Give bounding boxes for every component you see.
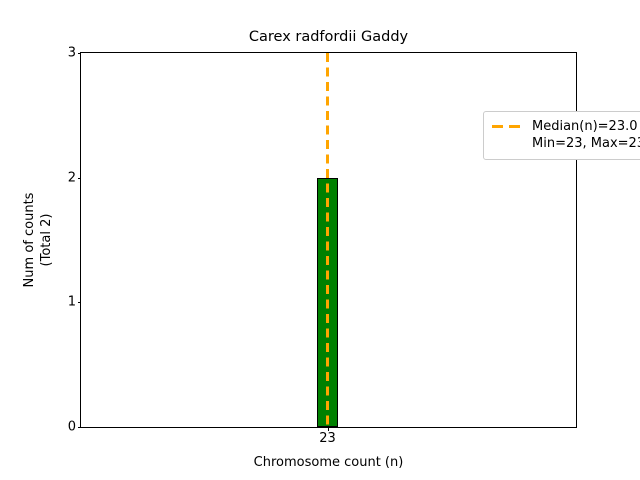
x-axis-label: Chromosome count (n) bbox=[80, 455, 577, 470]
y-axis-label-line2: (Total 2) bbox=[38, 52, 55, 428]
ytick-label-1: 1 bbox=[68, 296, 76, 309]
y-axis-label: Num of counts (Total 2) bbox=[21, 52, 57, 428]
legend-median-label: Median(n)=23.0 bbox=[532, 118, 640, 135]
legend-dashed-line-icon bbox=[492, 119, 524, 134]
plot-area: 0 1 2 3 23 bbox=[80, 52, 577, 428]
xtick-label-23: 23 bbox=[319, 432, 336, 445]
ytick-label-3: 3 bbox=[68, 47, 76, 60]
median-line bbox=[326, 53, 329, 427]
ytick-label-0: 0 bbox=[68, 421, 76, 434]
legend-minmax-label: Min=23, Max=23 bbox=[532, 135, 640, 152]
figure-canvas: Carex radfordii Gaddy 0 1 2 3 23 bbox=[0, 0, 640, 480]
ytick-label-2: 2 bbox=[68, 171, 76, 184]
y-axis-label-line1: Num of counts bbox=[21, 52, 38, 428]
xtick-mark-23 bbox=[328, 427, 329, 431]
legend: Median(n)=23.0 Min=23, Max=23 bbox=[483, 111, 640, 160]
ytick-mark-0 bbox=[78, 427, 82, 428]
bars-layer bbox=[81, 53, 576, 427]
legend-entry-text: Median(n)=23.0 Min=23, Max=23 bbox=[532, 118, 640, 152]
chart-title: Carex radfordii Gaddy bbox=[80, 28, 577, 46]
